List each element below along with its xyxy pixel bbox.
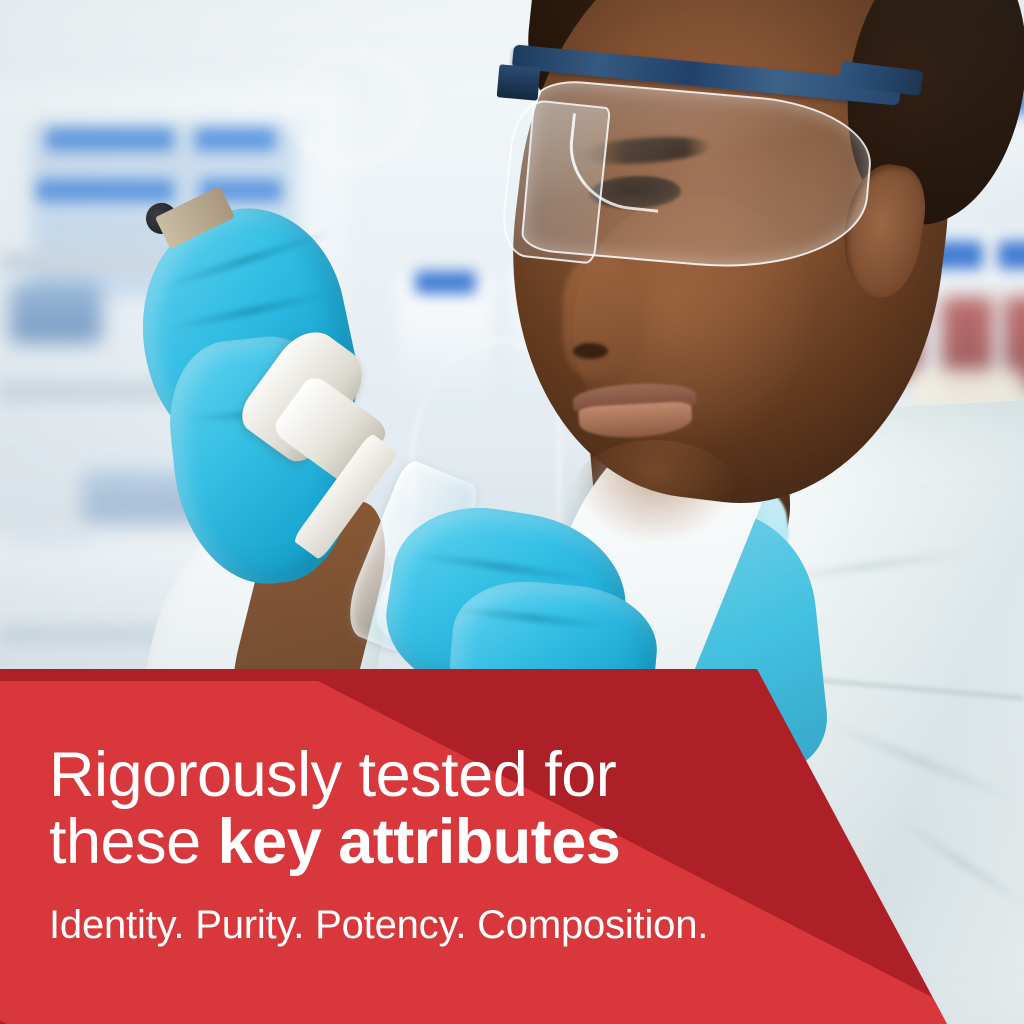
glassware-blur	[287, 51, 420, 163]
shelf-label-blue-2	[195, 128, 277, 151]
bottle-cap-center-1	[415, 271, 476, 294]
shelf-label-blue-3	[36, 179, 174, 202]
promo-banner-image: Rigorously tested for these key attribut…	[0, 0, 1024, 1024]
safety-glasses-hinge	[496, 64, 540, 100]
laboratory-photo	[0, 0, 1024, 1024]
bottle-center-1	[399, 276, 491, 409]
reagent-cap-5	[998, 241, 1024, 270]
safety-glasses-side-shield	[499, 98, 611, 265]
shelf-label-blue-1	[46, 128, 174, 151]
storage-box-blue-1	[10, 282, 102, 343]
chin	[573, 440, 737, 542]
